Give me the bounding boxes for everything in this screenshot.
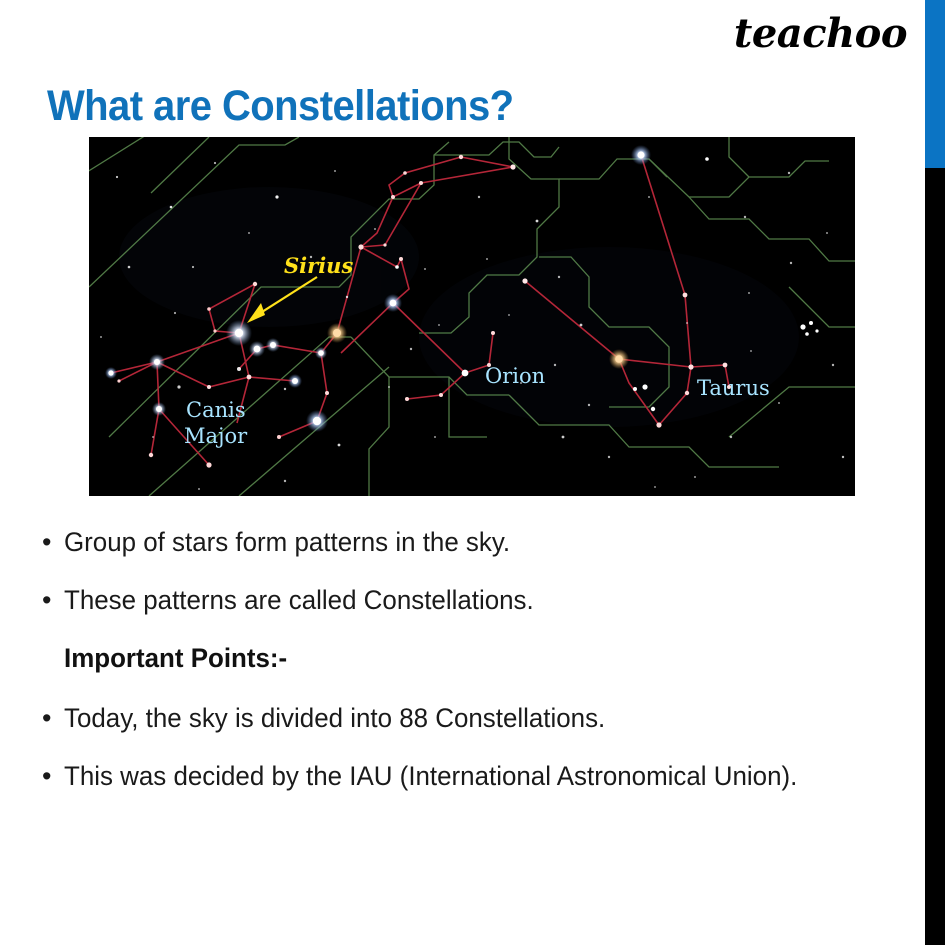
- bullet-glyph: •: [38, 701, 64, 735]
- page-title: What are Constellations?: [47, 84, 514, 129]
- aldebaran-star: [615, 355, 623, 363]
- slide-body-content: • Group of stars form patterns in the sk…: [38, 525, 928, 817]
- bullet-glyph: •: [38, 583, 64, 617]
- list-item: • These patterns are called Constellatio…: [38, 583, 928, 617]
- star-map-image: Sirius Canis Major Orion Taurus: [89, 137, 855, 496]
- rigel-star: [313, 417, 321, 425]
- important-points-heading-label: Important Points:-: [64, 641, 287, 675]
- bullet-glyph: •: [38, 759, 64, 793]
- taurus-label: Taurus: [697, 376, 770, 400]
- right-rail-blue-segment: [925, 0, 945, 168]
- list-item-label: Group of stars form patterns in the sky.: [64, 525, 510, 559]
- canis-major-label-line1: Canis: [186, 398, 246, 422]
- sirius-star: [235, 329, 243, 337]
- list-item: • This was decided by the IAU (Internati…: [38, 759, 928, 793]
- list-item-label: Today, the sky is divided into 88 Conste…: [64, 701, 605, 735]
- elnath-star: [637, 151, 644, 158]
- list-item: • Group of stars form patterns in the sk…: [38, 525, 928, 559]
- list-item: • Today, the sky is divided into 88 Cons…: [38, 701, 928, 735]
- teachoo-logo: teachoo: [734, 14, 907, 54]
- betelgeuse-star: [333, 329, 341, 337]
- list-item-label: These patterns are called Constellations…: [64, 583, 534, 617]
- important-points-heading: Important Points:-: [38, 641, 928, 675]
- right-rail-black-segment: [925, 168, 945, 945]
- bullet-glyph: •: [38, 525, 64, 559]
- canis-major-label-line2: Major: [184, 424, 248, 448]
- orion-label: Orion: [485, 364, 545, 388]
- list-item-label: This was decided by the IAU (Internation…: [64, 759, 797, 793]
- right-edge-rail: [925, 0, 945, 945]
- sirius-label: Sirius: [284, 253, 353, 278]
- star-chart-svg: Sirius Canis Major Orion Taurus: [89, 137, 855, 496]
